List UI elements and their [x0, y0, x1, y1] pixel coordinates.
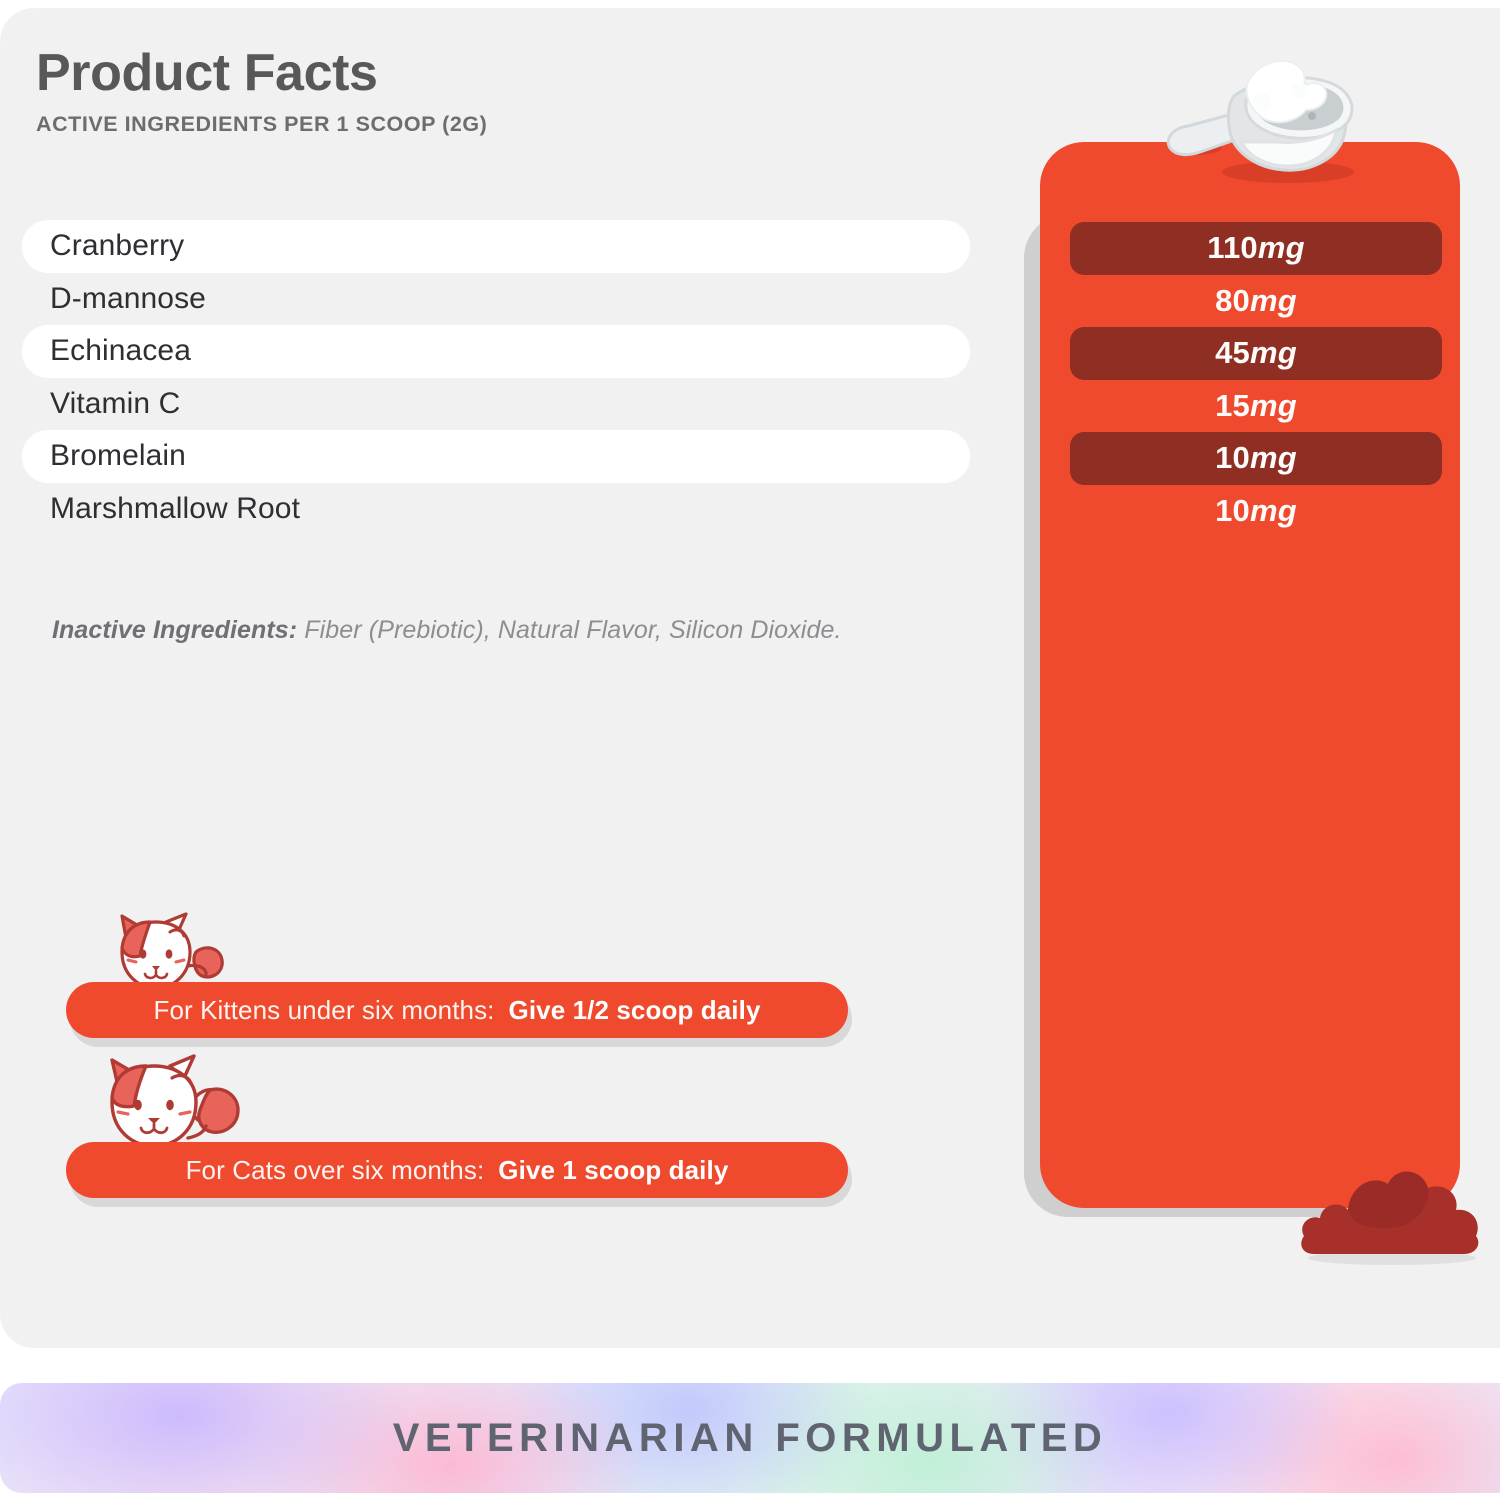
instruction-pill-cat[interactable]: For Cats over six months: Give 1 scoop d… — [66, 1142, 848, 1198]
instruction-pill-cat-wrap: For Cats over six months: Give 1 scoop d… — [66, 1142, 848, 1198]
instruction-pill-kitten-wrap: For Kittens under six months: Give 1/2 s… — [66, 982, 848, 1038]
dosage-value: 80mg — [1215, 283, 1297, 319]
instruction-emphasis: Give 1/2 scoop daily — [509, 995, 761, 1026]
header-block: Product Facts ACTIVE INGREDIENTS PER 1 S… — [36, 46, 487, 137]
ingredient-row: Echinacea — [22, 325, 970, 378]
ingredient-row: Marshmallow Root — [22, 483, 970, 536]
dosage-value: 110mg — [1207, 230, 1305, 266]
bush-icon — [1296, 1156, 1486, 1266]
instruction-text: For Cats over six months: — [186, 1155, 485, 1186]
instruction-emphasis: Give 1 scoop daily — [498, 1155, 728, 1186]
page-title: Product Facts — [36, 46, 487, 101]
inactive-ingredients-label: Inactive Ingredients: — [52, 616, 297, 644]
footer-text: VETERINARIAN FORMULATED — [393, 1416, 1108, 1461]
page-subtitle: ACTIVE INGREDIENTS PER 1 SCOOP (2G) — [36, 112, 487, 137]
inactive-ingredients-text: Fiber (Prebiotic), Natural Flavor, Silic… — [297, 616, 841, 644]
ingredient-name: Bromelain — [50, 439, 186, 473]
ingredient-row: Vitamin C — [22, 378, 970, 431]
dosage-row: 110mg — [1070, 222, 1442, 275]
ingredient-name: D-mannose — [50, 282, 206, 316]
dosage-value: 10mg — [1215, 493, 1297, 529]
footer-banner: VETERINARIAN FORMULATED — [0, 1383, 1500, 1493]
ingredient-name: Marshmallow Root — [50, 492, 300, 526]
dosage-value: 45mg — [1215, 335, 1297, 371]
dosage-row: 45mg — [1070, 327, 1442, 380]
dosage-row: 10mg — [1070, 432, 1442, 485]
dosage-value: 15mg — [1215, 388, 1297, 424]
dosage-row: 80mg — [1070, 275, 1442, 328]
ingredient-row: Cranberry — [22, 220, 970, 273]
dosage-list: 110mg 80mg 45mg 15mg 10mg 10mg — [1070, 222, 1442, 537]
dosage-value: 10mg — [1215, 440, 1297, 476]
measuring-scoop-icon — [1148, 30, 1378, 190]
ingredient-row: Bromelain — [22, 430, 970, 483]
ingredient-name: Vitamin C — [50, 387, 180, 421]
ingredient-name: Cranberry — [50, 229, 184, 263]
dosage-row: 10mg — [1070, 485, 1442, 538]
ingredient-name: Echinacea — [50, 334, 191, 368]
ingredient-list: Cranberry D-mannose Echinacea Vitamin C … — [22, 220, 970, 535]
ingredient-row: D-mannose — [22, 273, 970, 326]
dosage-row: 15mg — [1070, 380, 1442, 433]
product-facts-card: Product Facts ACTIVE INGREDIENTS PER 1 S… — [0, 8, 1500, 1348]
instruction-text: For Kittens under six months: — [153, 995, 494, 1026]
inactive-ingredients: Inactive Ingredients: Fiber (Prebiotic),… — [52, 616, 842, 645]
instruction-pill-kitten[interactable]: For Kittens under six months: Give 1/2 s… — [66, 982, 848, 1038]
